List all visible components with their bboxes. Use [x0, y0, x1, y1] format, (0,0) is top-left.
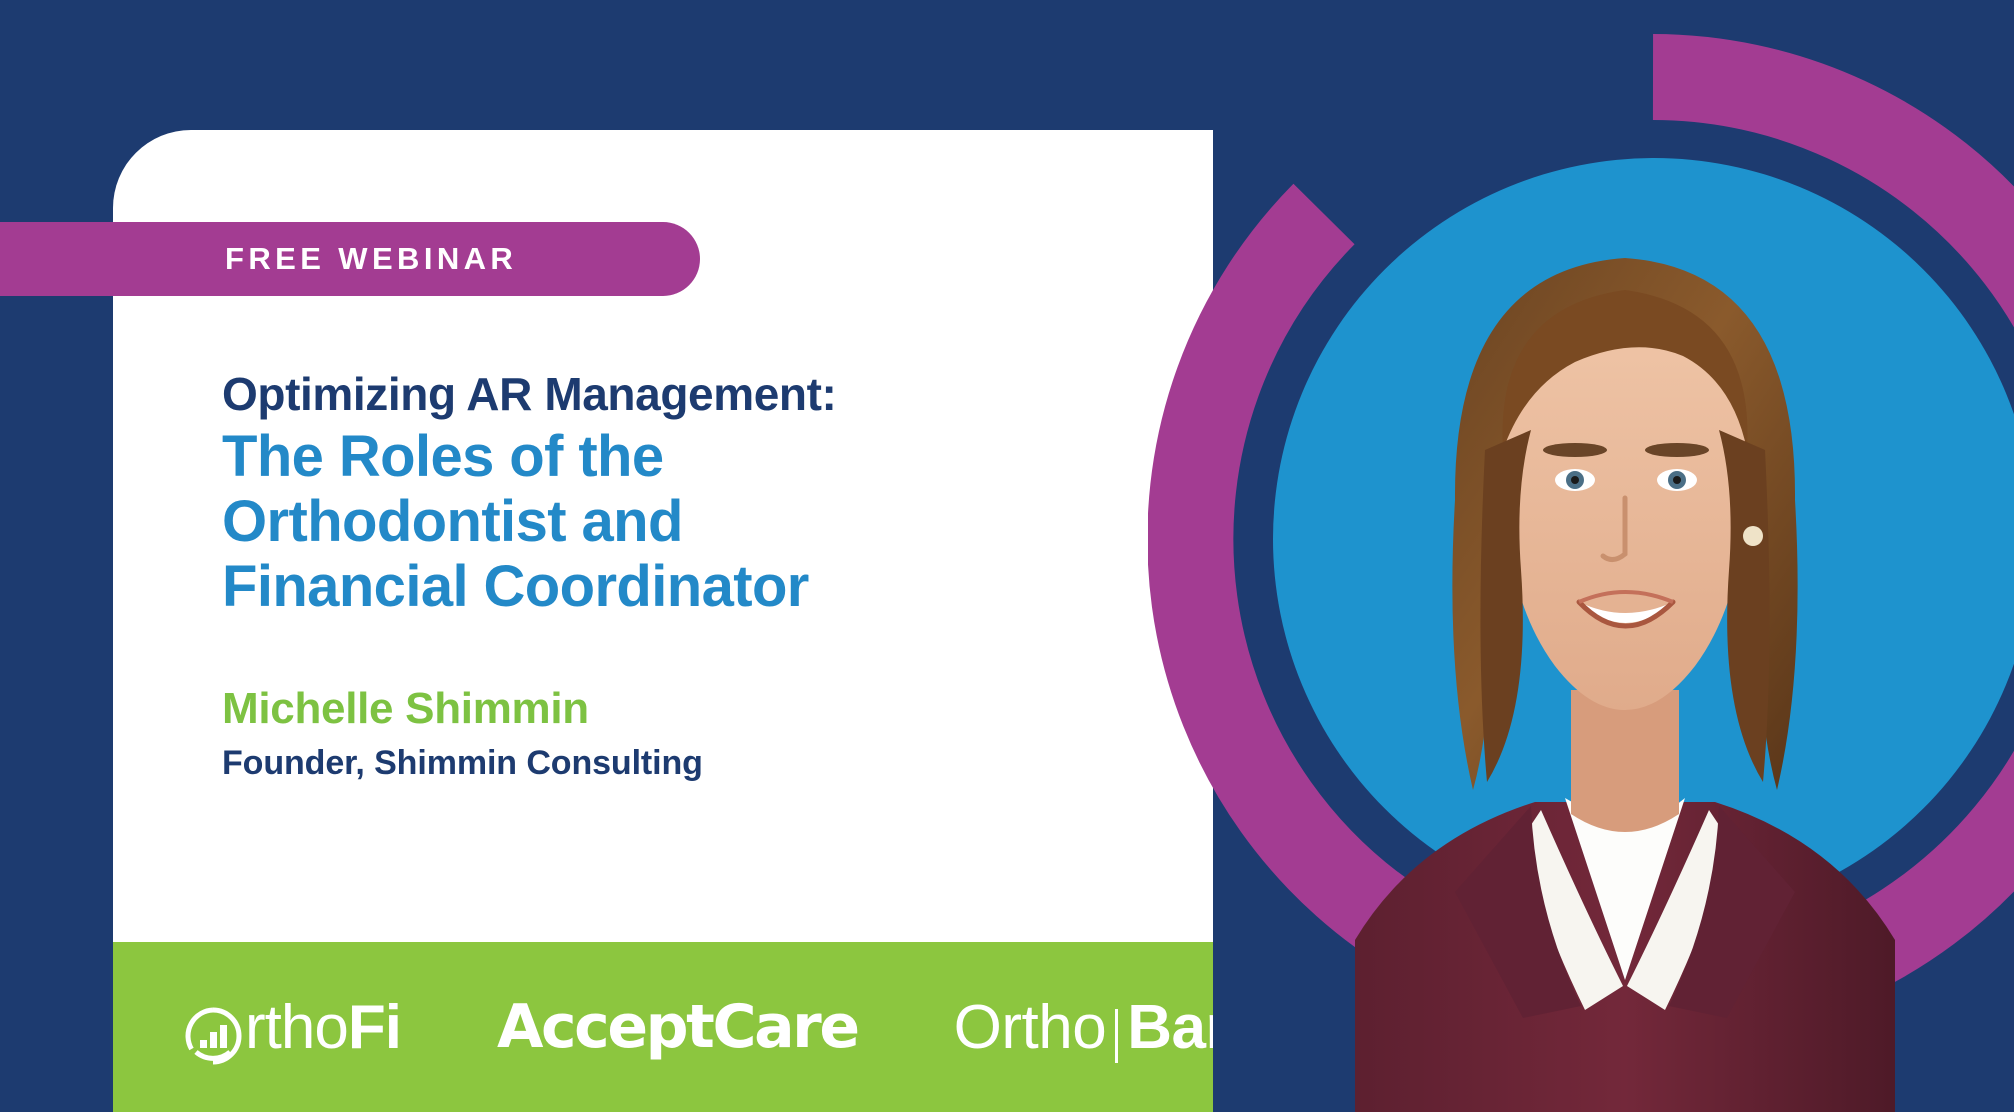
- logo-row: rthoFi AcceptCare Ortho Banc: [113, 942, 1213, 1112]
- headline-block: Optimizing AR Management: The Roles of t…: [222, 368, 1162, 783]
- logo-orthobanc[interactable]: Ortho Banc: [954, 992, 1213, 1063]
- headline-line-1: The Roles of the: [222, 425, 1162, 490]
- speaker-role: Founder, Shimmin Consulting: [222, 744, 1162, 783]
- logo-orthofi[interactable]: rthoFi: [183, 992, 401, 1063]
- logo-orthofi-bold: Fi: [348, 992, 401, 1063]
- free-webinar-label: FREE WEBINAR: [225, 241, 517, 277]
- speaker-name: Michelle Shimmin: [222, 684, 1162, 734]
- partner-logo-bar: rthoFi AcceptCare Ortho Banc: [113, 942, 1213, 1112]
- logo-acceptcare[interactable]: AcceptCare: [497, 992, 858, 1062]
- logo-orthofi-light: rtho: [245, 992, 348, 1063]
- bar-chart-circle-icon: [183, 1006, 243, 1066]
- free-webinar-badge: FREE WEBINAR: [0, 222, 700, 296]
- logo-orthobanc-separator: [1115, 1009, 1118, 1063]
- webinar-banner: rthoFi AcceptCare Ortho Banc FREE WEBINA…: [0, 0, 2014, 1112]
- headline-line-2: Orthodontist and: [222, 490, 1162, 555]
- logo-orthobanc-light: Ortho: [954, 992, 1107, 1063]
- speaker-portrait: [1335, 150, 1915, 1112]
- headline-line-3: Financial Coordinator: [222, 555, 1162, 620]
- logo-orthobanc-bold: Banc: [1127, 992, 1213, 1063]
- headline-kicker: Optimizing AR Management:: [222, 368, 1162, 421]
- logo-acceptcare-text: AcceptCare: [497, 992, 858, 1062]
